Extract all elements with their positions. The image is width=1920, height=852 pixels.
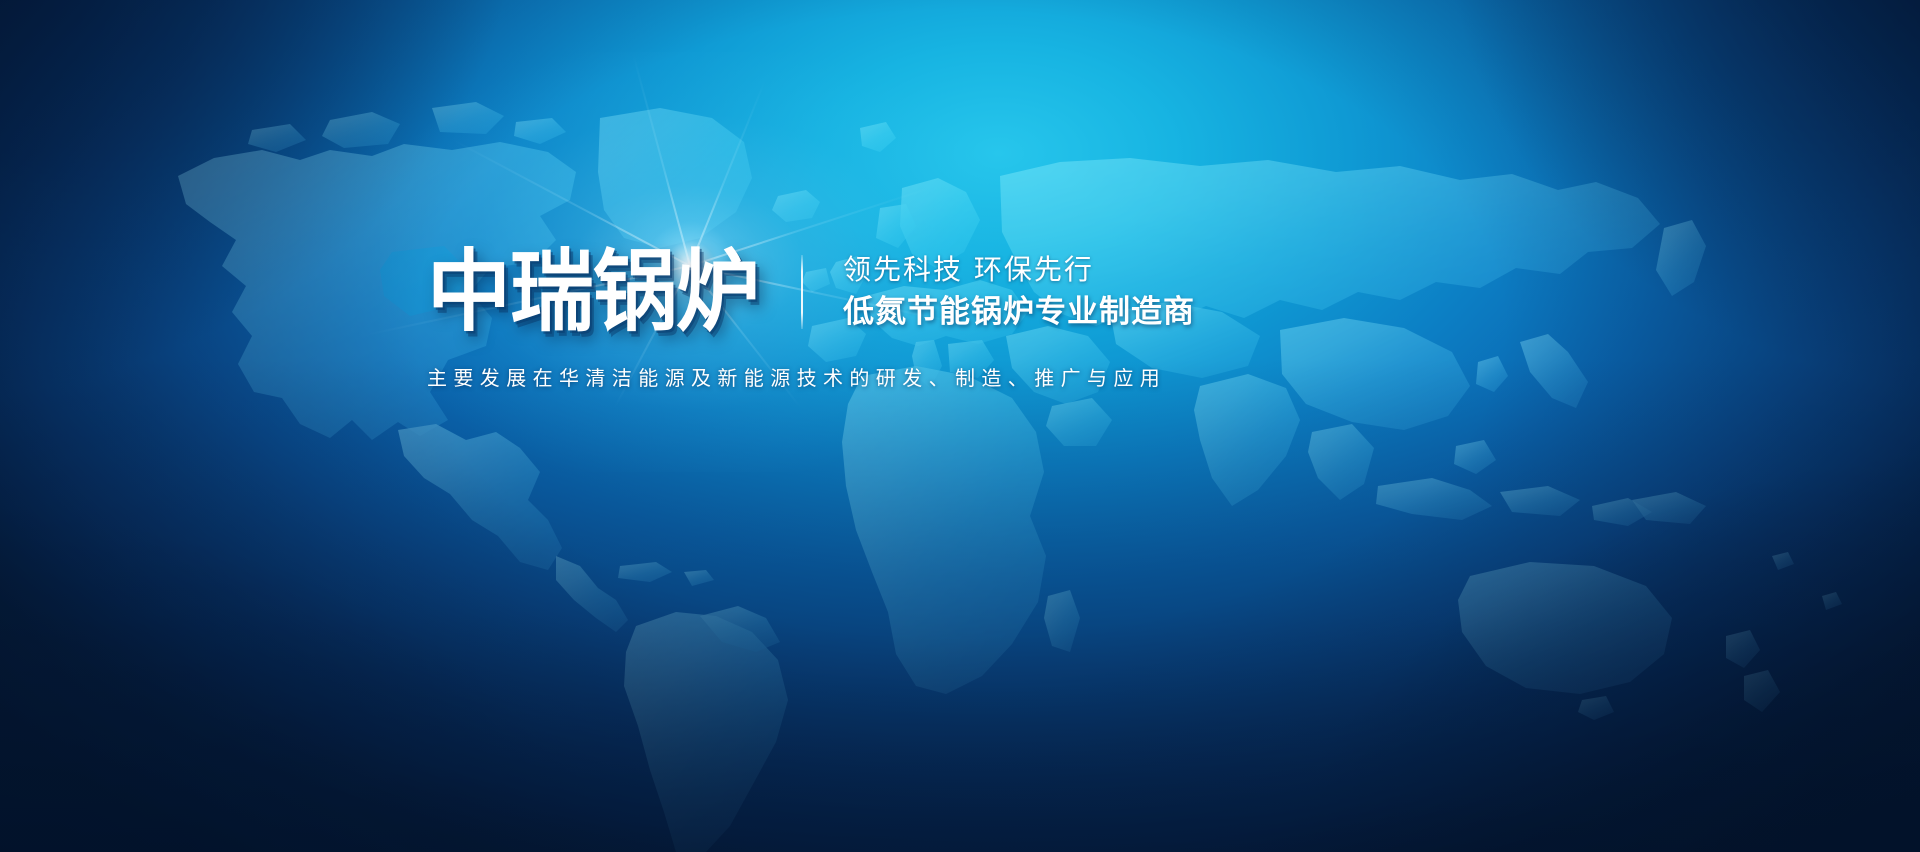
vertical-divider — [801, 255, 803, 329]
headline-row: 中瑞锅炉 领先科技 环保先行 低氮节能锅炉专业制造商 — [427, 250, 1195, 334]
vignette-overlay — [0, 0, 1920, 852]
brand-logo-text: 中瑞锅炉 — [427, 247, 759, 336]
slogan-line-primary: 领先科技 环保先行 — [843, 255, 1195, 286]
slogan-line-secondary: 低氮节能锅炉专业制造商 — [843, 295, 1195, 329]
hero-banner: 中瑞锅炉 领先科技 环保先行 低氮节能锅炉专业制造商 主要发展在华清洁能源及新能… — [0, 0, 1920, 852]
slogan-group: 领先科技 环保先行 低氮节能锅炉专业制造商 — [843, 255, 1195, 329]
banner-tagline: 主要发展在华清洁能源及新能源技术的研发、制造、推广与应用 — [427, 362, 1166, 391]
